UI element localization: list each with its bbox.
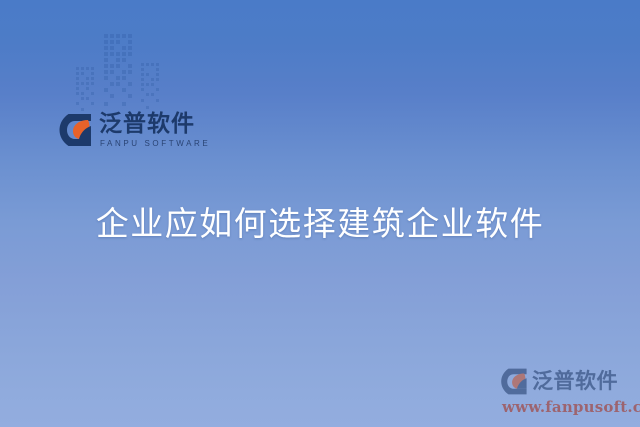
fanpu-logo-mark-icon [58,112,94,148]
watermark: 泛普软件 www.fanpusoft.com [500,366,636,418]
page-title: 企业应如何选择建筑企业软件 [0,203,640,245]
watermark-mark-svg [500,367,529,396]
watermark-brand-row: 泛普软件 [500,366,636,396]
brand-name-en: FANPU SOFTWARE [100,138,210,149]
watermark-brand-name-cn: 泛普软件 [532,370,618,393]
brand-logo-text: 泛普软件 FANPU SOFTWARE [99,111,210,149]
poster-canvas: 泛普软件 FANPU SOFTWARE 企业应如何选择建筑企业软件 泛普软件 w… [0,0,640,427]
fanpu-watermark-mark-icon [500,367,529,396]
logo-mark-svg [58,112,94,148]
pixel-building-skyline-decoration [70,22,170,117]
skyline-svg [70,22,170,117]
brand-logo: 泛普软件 FANPU SOFTWARE [58,111,210,149]
watermark-url: www.fanpusoft.com [502,398,636,416]
brand-name-cn: 泛普软件 [99,111,210,137]
